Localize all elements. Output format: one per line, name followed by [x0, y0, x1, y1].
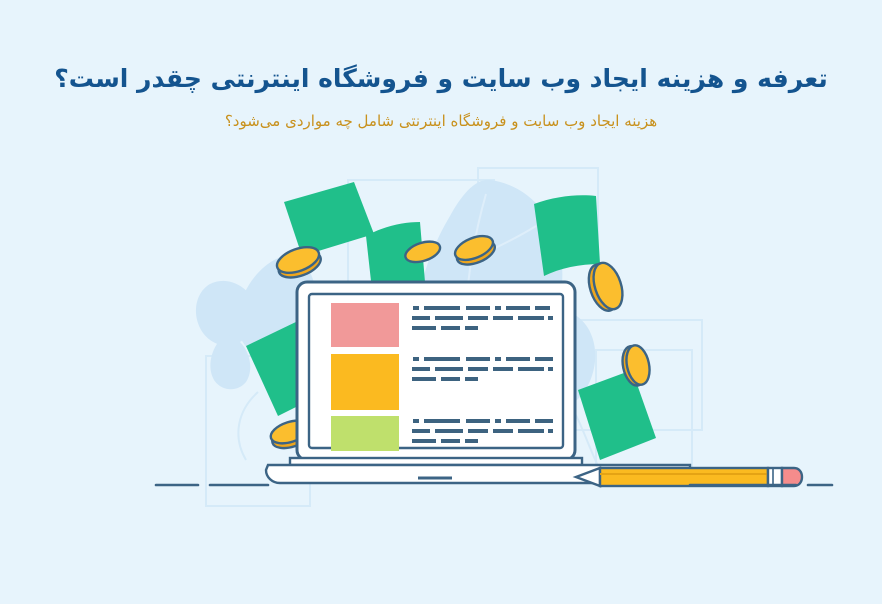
screen-swatch-amber [331, 354, 399, 410]
screen-swatch-pink [331, 303, 399, 347]
pencil [576, 468, 802, 486]
article-header-banner: تعرفه و هزینه ایجاد وب سایت و فروشگاه ای… [0, 0, 882, 604]
coin-right-upper [583, 259, 627, 314]
pencil-eraser [782, 468, 802, 486]
pencil-ferrule [768, 468, 782, 486]
screen-swatch-green [331, 416, 399, 451]
pencil-body [600, 468, 768, 486]
banknote-top-left [284, 182, 374, 256]
header-text-block: تعرفه و هزینه ایجاد وب سایت و فروشگاه ای… [0, 0, 882, 132]
coin-top-left [274, 242, 325, 282]
banknote-top-right [534, 195, 600, 276]
page-subtitle: هزینه ایجاد وب سایت و فروشگاه اینترنتی ش… [0, 96, 882, 132]
laptop-money-illustration [0, 160, 882, 520]
page-title: تعرفه و هزینه ایجاد وب سایت و فروشگاه ای… [0, 0, 882, 96]
